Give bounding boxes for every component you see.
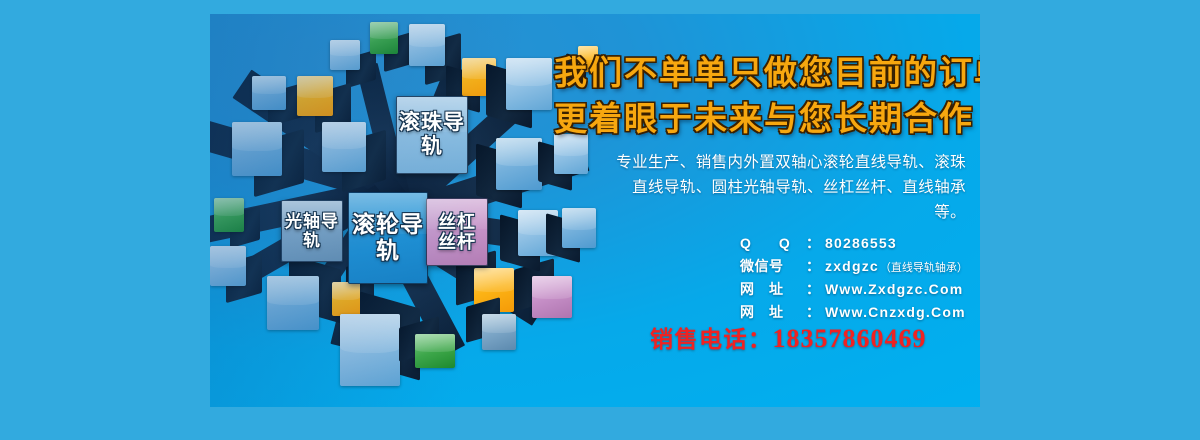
- product-label-text: 滚轮导轨: [349, 212, 427, 264]
- headline-line-1: 我们不单单只做您目前的订单: [554, 46, 974, 94]
- product-label-sigang-sigan[interactable]: 丝杠丝杆: [426, 198, 488, 266]
- contact-separator: ：: [806, 255, 820, 278]
- product-label-gunlun-daogui[interactable]: 滚轮导轨: [348, 192, 428, 284]
- contact-label: 网 址: [740, 278, 806, 301]
- banner-stage: 滚珠导轨 光轴导轨 滚轮导轨 丝杠丝杆 我们不单单只做您目前的订单 更着眼于未来…: [0, 0, 1200, 440]
- contact-block: Q Q ： 80286553 微信号 ： zxdgzc （直线导轨轴承） 网 址…: [740, 232, 968, 323]
- banner-copy: 我们不单单只做您目前的订单 更着眼于未来与您长期合作 专业生产、销售内外置双轴心…: [540, 14, 980, 407]
- decor-cube: [496, 138, 542, 190]
- decor-cube: [409, 24, 445, 66]
- contact-separator: ：: [806, 232, 820, 255]
- contact-note-wechat: （直线导轨轴承）: [880, 260, 968, 278]
- decor-cube: [267, 276, 319, 330]
- contact-value-wechat[interactable]: zxdgzc: [825, 255, 879, 278]
- decor-cube: [297, 76, 333, 116]
- decor-cube: [415, 334, 455, 368]
- contact-value-qq[interactable]: 80286553: [825, 232, 897, 255]
- decor-cube: [214, 198, 244, 232]
- company-description: 专业生产、销售内外置双轴心滚轮直线导轨、滚珠直线导轨、圆柱光轴导轨、丝杠丝杆、直…: [606, 150, 966, 225]
- product-label-gunzhu-daogui[interactable]: 滚珠导轨: [396, 96, 468, 174]
- decor-cube: [322, 122, 366, 172]
- decor-cube: [340, 314, 400, 386]
- decor-cube: [330, 40, 360, 70]
- decor-cube: [232, 122, 282, 176]
- sales-phone[interactable]: 销售电话：18357860469: [650, 320, 927, 354]
- contact-label: 微信号: [740, 255, 806, 278]
- headline-line-2: 更着眼于未来与您长期合作: [554, 92, 974, 140]
- product-label-text: 光轴导轨: [282, 212, 342, 250]
- product-label-text: 滚珠导轨: [397, 111, 467, 158]
- product-label-guangzhou-daogui[interactable]: 光轴导轨: [281, 200, 343, 262]
- sales-phone-number[interactable]: 18357860469: [773, 324, 927, 353]
- contact-value-website-1[interactable]: Www.Zxdgzc.Com: [825, 278, 963, 301]
- product-label-text: 丝杠丝杆: [427, 212, 487, 252]
- decor-cube: [332, 282, 360, 316]
- promo-banner: 滚珠导轨 光轴导轨 滚轮导轨 丝杠丝杆 我们不单单只做您目前的订单 更着眼于未来…: [210, 14, 980, 407]
- decor-cube: [370, 22, 398, 54]
- contact-separator: ：: [806, 278, 820, 301]
- sales-phone-label: 销售电话：: [650, 326, 773, 352]
- decor-cube: [210, 246, 246, 286]
- contact-label: Q Q: [740, 232, 806, 255]
- contact-row-website-1: 网 址 ： Www.Zxdgzc.Com: [740, 278, 968, 301]
- decor-cube: [252, 76, 286, 110]
- contact-row-qq: Q Q ： 80286553: [740, 232, 968, 255]
- decor-cube: [482, 314, 516, 350]
- contact-row-wechat: 微信号 ： zxdgzc （直线导轨轴承）: [740, 255, 968, 278]
